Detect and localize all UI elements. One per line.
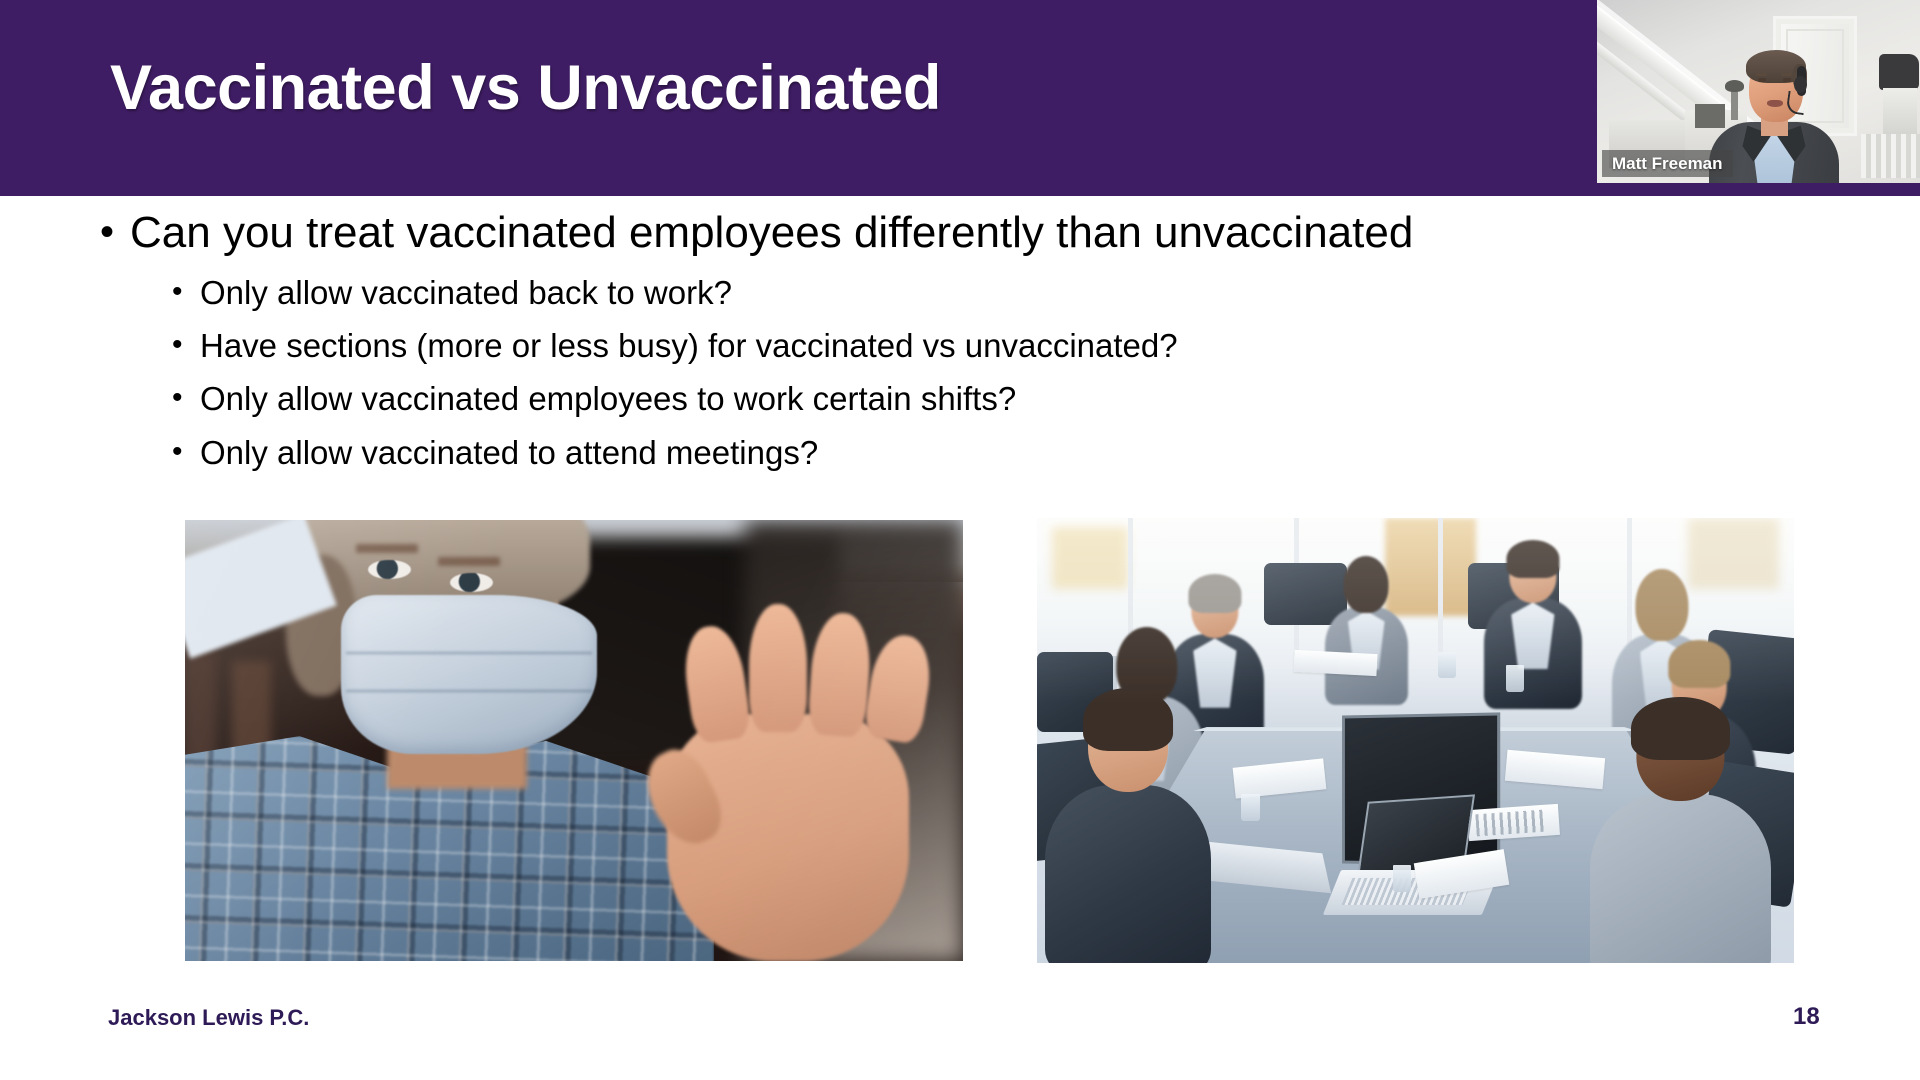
bullet-item-level2: • Only allow vaccinated to attend meetin… (172, 434, 818, 472)
bullet-item-level2: • Only allow vaccinated employees to wor… (172, 380, 1016, 418)
bullet-marker-icon: • (100, 208, 130, 252)
railing (1861, 134, 1920, 178)
bullet-marker-icon: • (172, 380, 200, 413)
eyebrow-left (1756, 73, 1767, 76)
mouth (1767, 100, 1783, 107)
bullet-text: Have sections (more or less busy) for va… (200, 327, 1178, 365)
eye-right (1783, 78, 1791, 82)
bullet-marker-icon: • (172, 434, 200, 467)
glass-reflection-overlay (185, 520, 963, 961)
bullet-item-level1: • Can you treat vaccinated employees dif… (100, 208, 1413, 258)
bullet-marker-icon: • (172, 274, 200, 307)
eye-left (1758, 78, 1766, 82)
bullet-marker-icon: • (172, 327, 200, 360)
bullet-item-level2: • Have sections (more or less busy) for … (172, 327, 1178, 365)
webcam-video-tile[interactable]: Matt Freeman (1597, 0, 1920, 183)
headset-earcup (1794, 76, 1807, 93)
eyebrow-right (1781, 73, 1792, 76)
bullet-item-level2: • Only allow vaccinated back to work? (172, 274, 732, 312)
bullet-text: Only allow vaccinated employees to work … (200, 380, 1016, 418)
bullet-text: Only allow vaccinated back to work? (200, 274, 732, 312)
webcam-name-label: Matt Freeman (1602, 150, 1733, 177)
pedestal (1883, 88, 1917, 136)
dark-object (1879, 54, 1919, 90)
bullet-text: Can you treat vaccinated employees diffe… (130, 208, 1413, 258)
webcam-participant-name: Matt Freeman (1612, 154, 1723, 174)
footer-firm-name: Jackson Lewis P.C. (108, 1005, 309, 1031)
bullet-text: Only allow vaccinated to attend meetings… (200, 434, 818, 472)
slide-page-number: 18 (1793, 1003, 1820, 1031)
photo-light-overlay (1037, 518, 1794, 963)
page-title: Vaccinated vs Unvaccinated (110, 52, 941, 124)
business-meeting-photo (1037, 518, 1794, 963)
masked-person-at-window-photo (185, 520, 963, 961)
